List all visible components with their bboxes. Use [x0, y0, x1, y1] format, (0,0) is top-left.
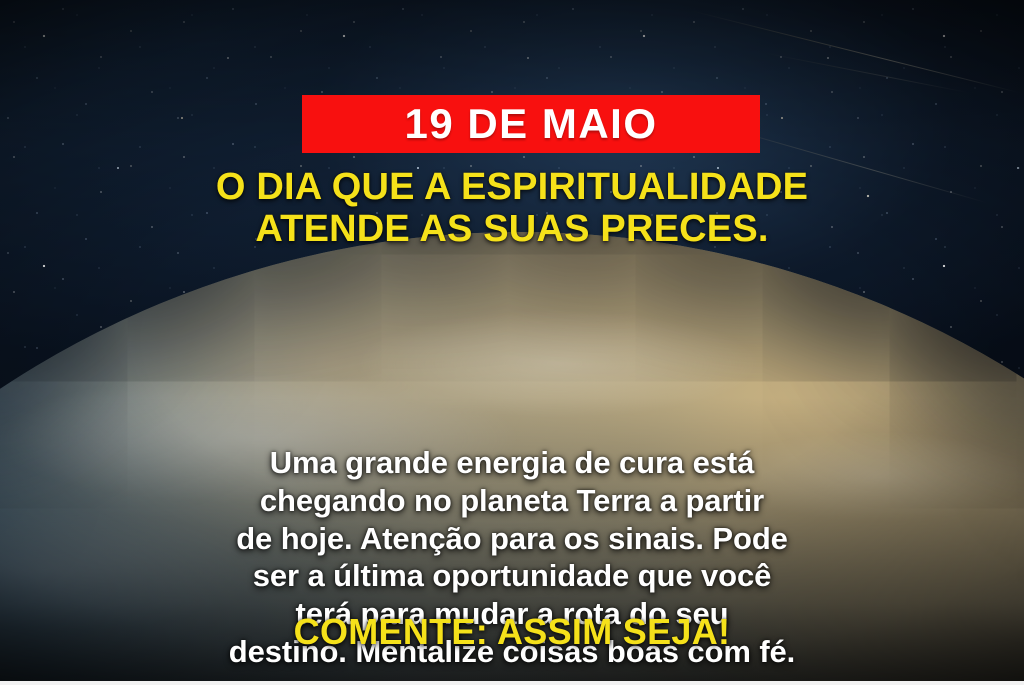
headline: O DIA QUE A ESPIRITUALIDADE ATENDE AS SU…: [0, 166, 1024, 250]
body-line-1: Uma grande energia de cura está: [58, 444, 966, 482]
body-line-2: chegando no planeta Terra a partir: [58, 482, 966, 520]
headline-line-1: O DIA QUE A ESPIRITUALIDADE: [48, 166, 976, 208]
bottom-edge-strip: [0, 681, 1024, 685]
body-line-4: ser a última oportunidade que você: [58, 557, 966, 595]
poster-content: 19 DE MAIO O DIA QUE A ESPIRITUALIDADE A…: [0, 0, 1024, 685]
date-badge-label: 19 DE MAIO: [404, 103, 657, 145]
headline-line-2: ATENDE AS SUAS PRECES.: [48, 208, 976, 250]
poster-canvas: 19 DE MAIO O DIA QUE A ESPIRITUALIDADE A…: [0, 0, 1024, 685]
body-line-3: de hoje. Atenção para os sinais. Pode: [58, 520, 966, 558]
date-badge: 19 DE MAIO: [302, 95, 760, 153]
call-to-action-text: COMENTE: ASSIM SEJA!: [0, 612, 1024, 652]
